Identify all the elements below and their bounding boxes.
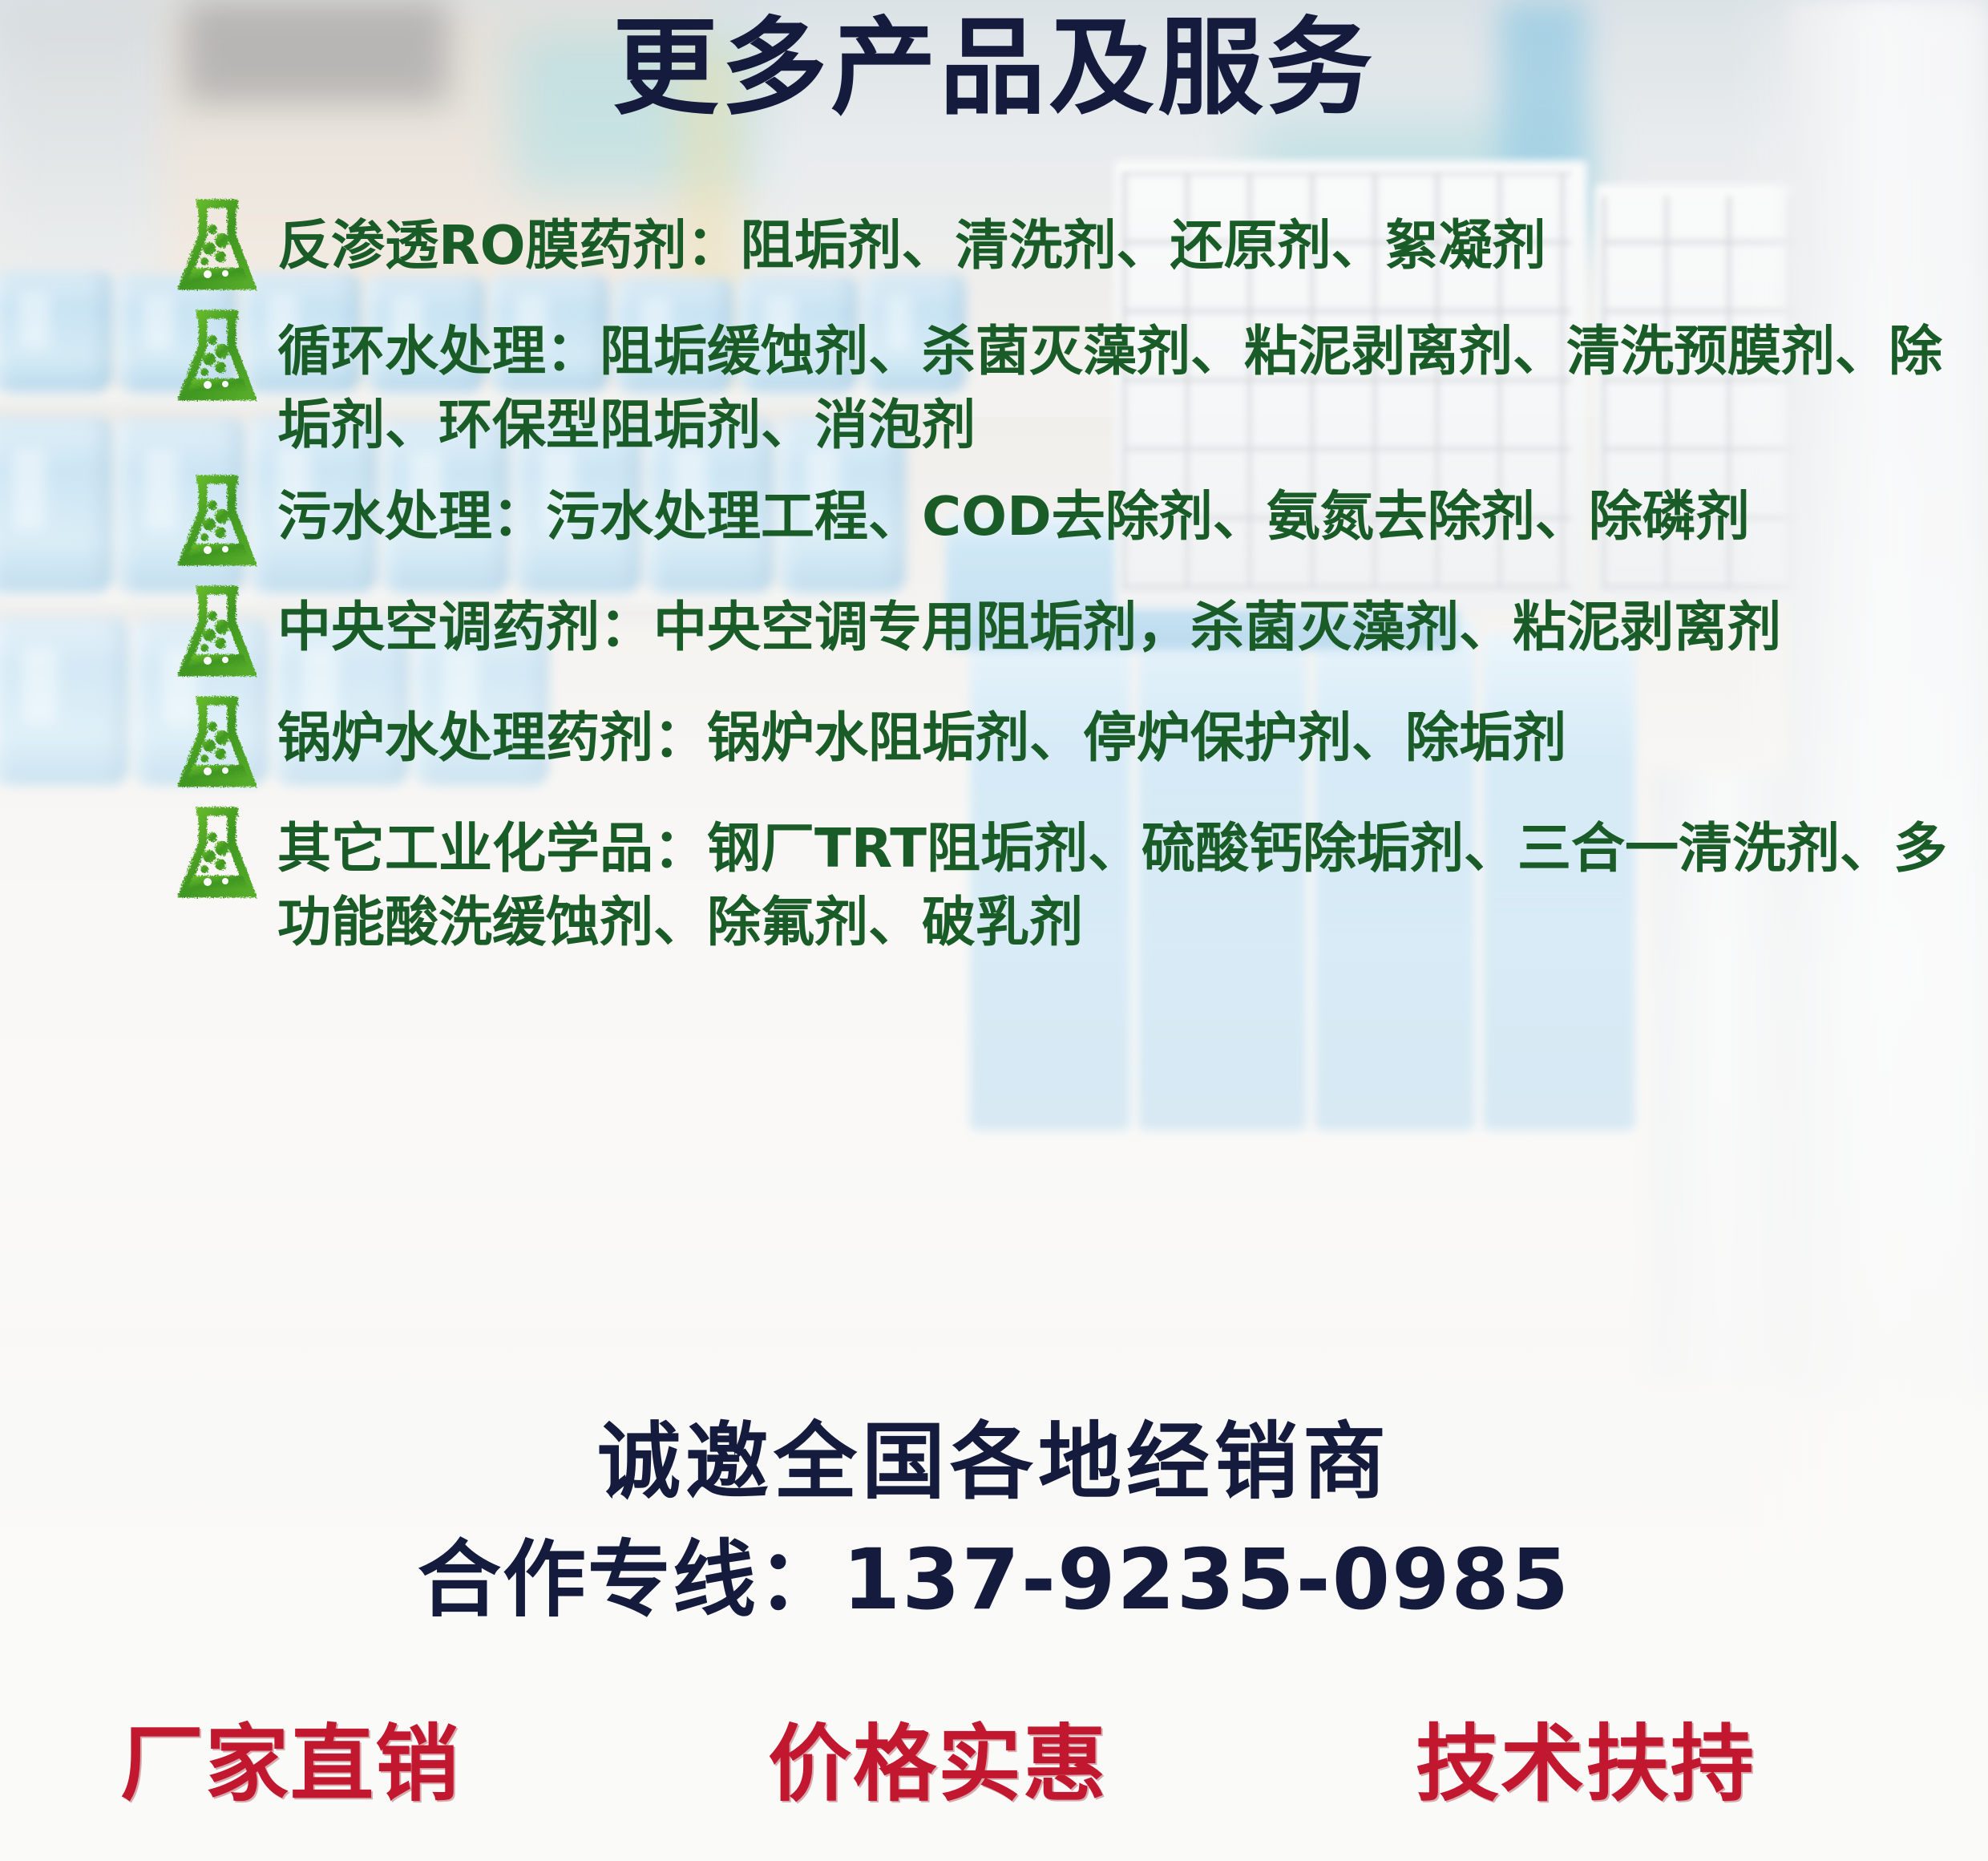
flask-icon — [172, 305, 262, 407]
list-item-icon-cell — [157, 799, 277, 904]
list-item-text: 循环水处理：阻垢缓蚀剂、杀菌灭藻剂、粘泥剥离剂、清洗预膜剂、除垢剂、环保型阻垢剂… — [277, 301, 1961, 462]
list-item: 其它工业化学品：钢厂TRT阻垢剂、硫酸钙除垢剂、三合一清洗剂、多功能酸洗缓蚀剂、… — [157, 799, 1961, 959]
list-item: 锅炉水处理药剂：锅炉水阻垢剂、停炉保护剂、除垢剂 — [157, 688, 1961, 794]
cta-invite-line: 诚邀全国各地经销商 — [0, 1410, 1988, 1514]
flask-icon — [172, 581, 262, 683]
list-item-text: 中央空调药剂：中央空调专用阻垢剂，杀菌灭藻剂、粘泥剥离剂 — [277, 577, 1961, 664]
service-list: 反渗透RO膜药剂：阻垢剂、清洗剂、还原剂、絮凝剂 — [157, 191, 1961, 964]
flask-icon — [172, 691, 262, 794]
slogan-tech-support: 技术扶持 — [1416, 1696, 1756, 1817]
list-item: 反渗透RO膜药剂：阻垢剂、清洗剂、还原剂、絮凝剂 — [157, 191, 1961, 297]
flask-icon — [172, 470, 262, 572]
flask-icon — [172, 194, 262, 297]
list-item: 循环水处理：阻垢缓蚀剂、杀菌灭藻剂、粘泥剥离剂、清洗预膜剂、除垢剂、环保型阻垢剂… — [157, 301, 1961, 462]
slogan-row: 厂家直销 价格实惠 技术扶持 — [120, 1696, 1884, 1817]
list-item-text: 污水处理：污水处理工程、COD去除剂、氨氮去除剂、除磷剂 — [277, 467, 1961, 553]
call-to-action: 诚邀全国各地经销商 合作专线：137-9235-0985 — [0, 1410, 1988, 1631]
list-item-text: 其它工业化学品：钢厂TRT阻垢剂、硫酸钙除垢剂、三合一清洗剂、多功能酸洗缓蚀剂、… — [277, 799, 1961, 959]
slogan-factory-direct: 厂家直销 — [120, 1696, 460, 1817]
flask-icon — [172, 802, 262, 904]
promo-poster: 更多产品及服务 — [0, 0, 1988, 1861]
cta-phone-line[interactable]: 合作专线：137-9235-0985 — [0, 1528, 1988, 1631]
list-item-icon-cell — [157, 467, 277, 572]
list-item-icon-cell — [157, 191, 277, 297]
page-title: 更多产品及服务 — [0, 6, 1988, 131]
list-item-icon-cell — [157, 688, 277, 794]
list-item: 污水处理：污水处理工程、COD去除剂、氨氮去除剂、除磷剂 — [157, 467, 1961, 572]
slogan-affordable-price: 价格实惠 — [768, 1696, 1108, 1817]
list-item-icon-cell — [157, 301, 277, 407]
list-item-icon-cell — [157, 577, 277, 683]
list-item-text: 反渗透RO膜药剂：阻垢剂、清洗剂、还原剂、絮凝剂 — [277, 191, 1961, 282]
list-item-text: 锅炉水处理药剂：锅炉水阻垢剂、停炉保护剂、除垢剂 — [277, 688, 1961, 775]
list-item: 中央空调药剂：中央空调专用阻垢剂，杀菌灭藻剂、粘泥剥离剂 — [157, 577, 1961, 683]
